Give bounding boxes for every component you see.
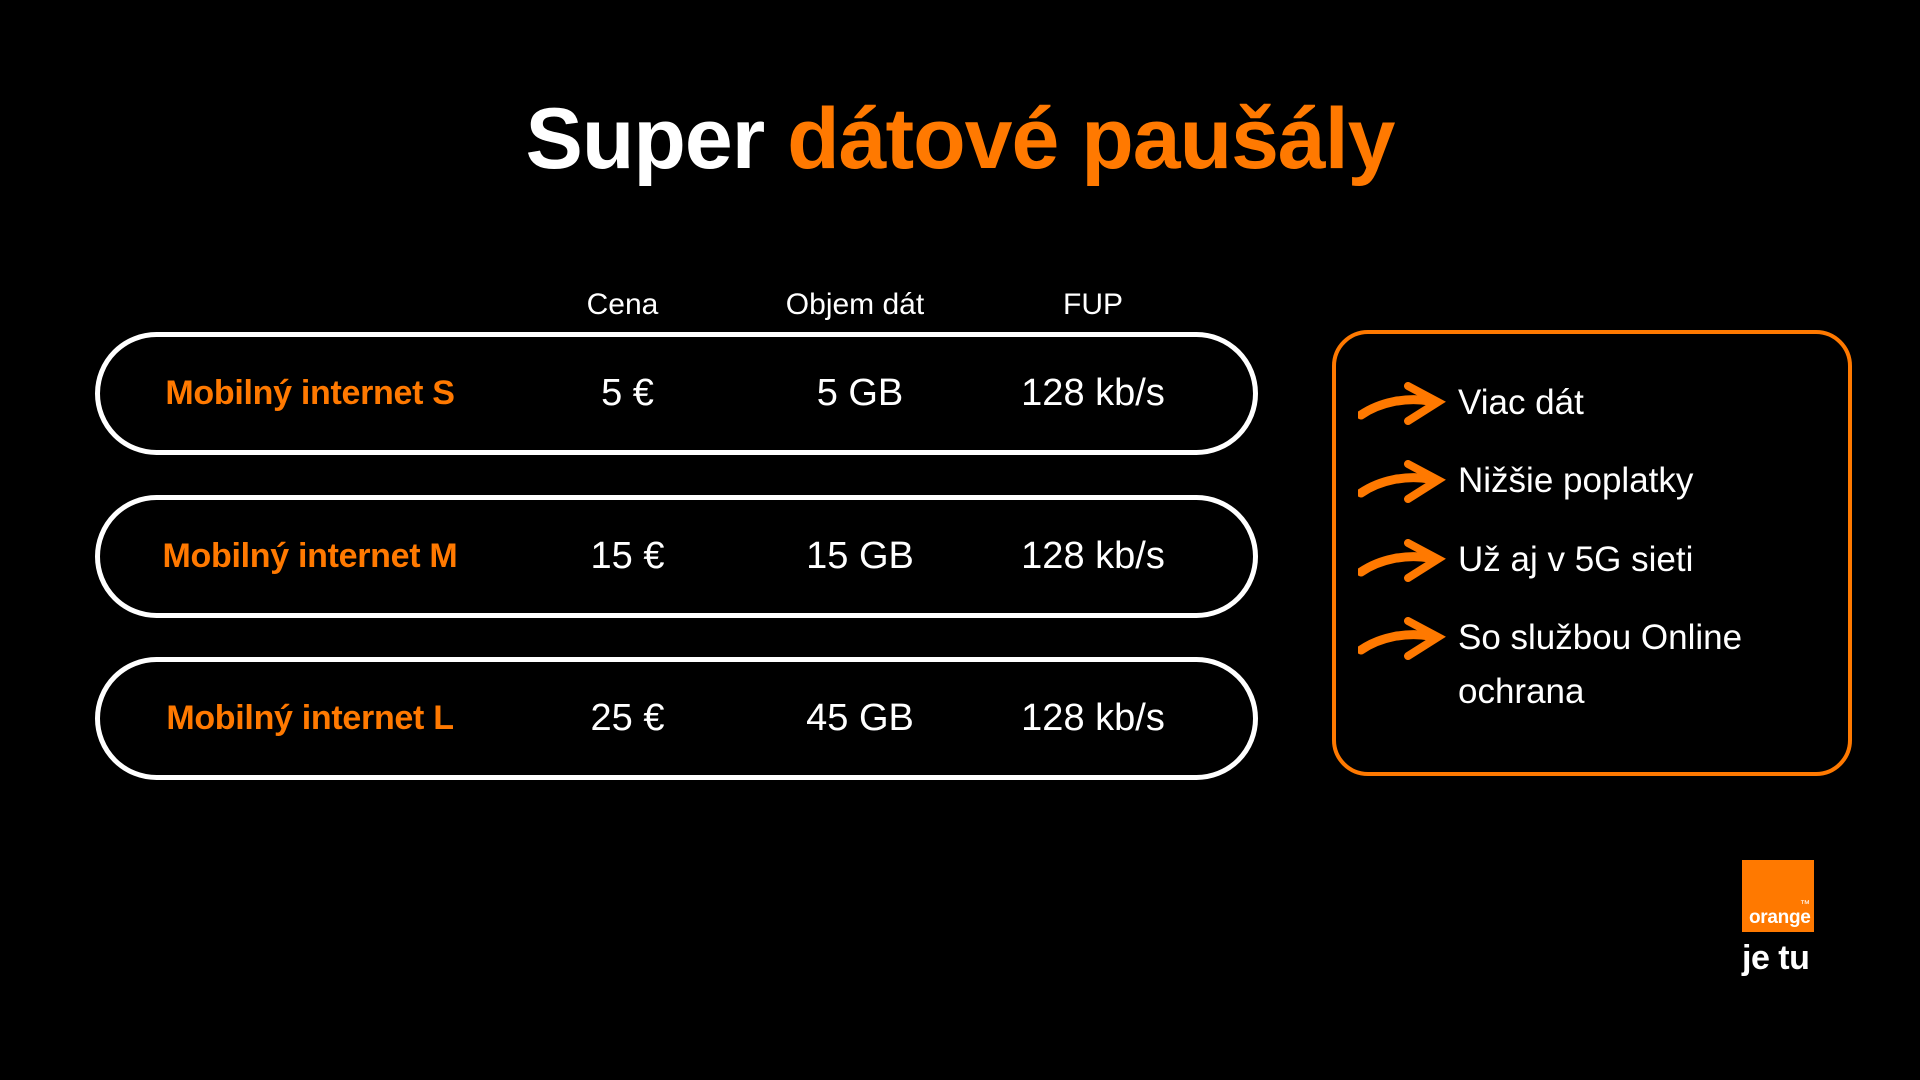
table-row[interactable]: Mobilný internet L 25 € 45 GB 128 kb/s	[95, 657, 1258, 780]
curved-arrow-right-icon	[1358, 460, 1458, 506]
plan-data-volume: 5 GB	[735, 372, 985, 415]
plan-fup: 128 kb/s	[985, 372, 1253, 415]
list-item: Nižšie poplatky	[1358, 454, 1822, 508]
logo-wordmark: orange	[1749, 908, 1811, 927]
page-title-orange-part: dátové paušály	[787, 91, 1394, 187]
plan-price: 15 €	[520, 535, 735, 578]
curved-arrow-right-icon	[1358, 382, 1458, 428]
curved-arrow-right-icon	[1358, 539, 1458, 585]
plan-fup: 128 kb/s	[985, 535, 1253, 578]
plan-price: 5 €	[520, 372, 735, 415]
benefit-label: Už aj v 5G sieti	[1458, 533, 1822, 587]
list-item: Viac dát	[1358, 376, 1822, 430]
plan-name: Mobilný internet L	[100, 699, 520, 738]
plan-name: Mobilný internet M	[100, 537, 520, 576]
plan-data-volume: 15 GB	[735, 535, 985, 578]
plan-fup: 128 kb/s	[985, 697, 1253, 740]
column-header-fup: FUP	[980, 290, 1258, 320]
table-row[interactable]: Mobilný internet S 5 € 5 GB 128 kb/s	[95, 332, 1258, 455]
table-column-headers: Cena Objem dát FUP	[95, 283, 1258, 327]
column-header-data: Objem dát	[730, 290, 980, 320]
logo-square: orange ™	[1742, 860, 1814, 932]
plan-data-volume: 45 GB	[735, 697, 985, 740]
plan-price: 25 €	[520, 697, 735, 740]
list-item: Už aj v 5G sieti	[1358, 533, 1822, 587]
column-header-price: Cena	[515, 290, 730, 320]
page-title-white-part: Super	[526, 91, 788, 187]
list-item: So službou Online ochrana	[1358, 611, 1822, 720]
curved-arrow-right-icon	[1358, 617, 1458, 663]
benefit-label: Viac dát	[1458, 376, 1822, 430]
orange-logo: orange ™ je tu	[1742, 860, 1852, 975]
logo-tagline: je tu	[1742, 941, 1852, 975]
page-title: Super dátové paušály	[0, 92, 1920, 187]
trademark-icon: ™	[1800, 900, 1810, 910]
benefit-label: So službou Online ochrana	[1458, 611, 1822, 720]
benefits-panel: Viac dát Nižšie poplatky Už aj v 5G siet…	[1332, 330, 1852, 776]
benefit-label: Nižšie poplatky	[1458, 454, 1822, 508]
table-row[interactable]: Mobilný internet M 15 € 15 GB 128 kb/s	[95, 495, 1258, 618]
plan-name: Mobilný internet S	[100, 374, 520, 413]
